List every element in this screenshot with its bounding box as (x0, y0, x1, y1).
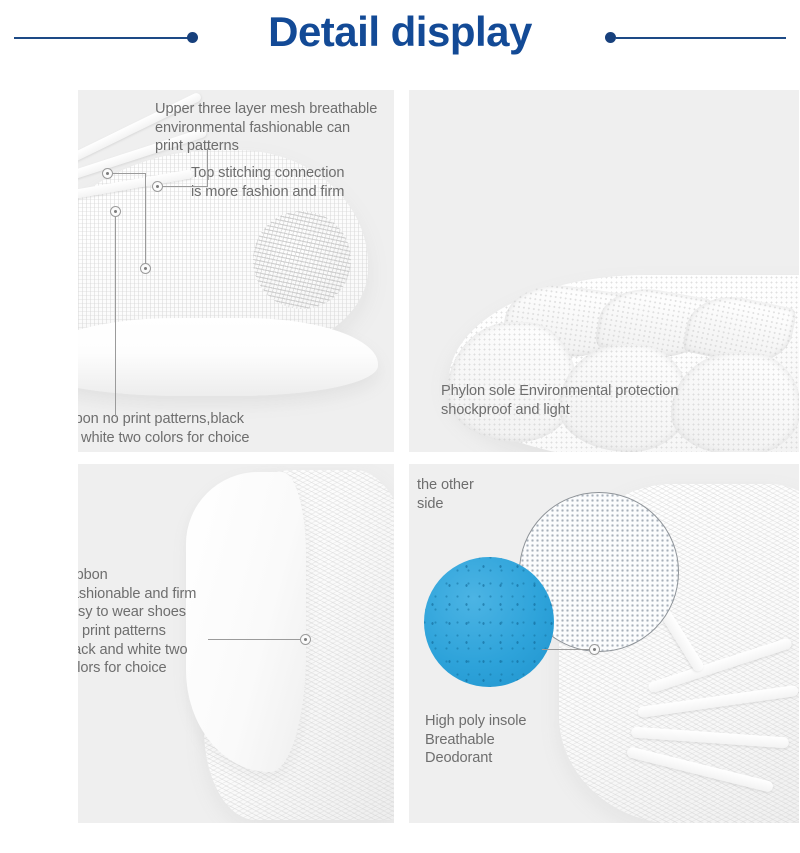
caption-high-poly-insole: High poly insole Breathable Deodorant (425, 712, 625, 768)
page-header: Detail display (0, 0, 800, 88)
caption-phylon-sole: Phylon sole Environmental protection sho… (441, 382, 781, 419)
callout-marker-stitching[interactable] (152, 181, 163, 192)
caption-upper-mesh: Upper three layer mesh breathable enviro… (155, 100, 394, 156)
insole-swatch-circle (424, 557, 554, 687)
callout-marker-insole[interactable] (589, 644, 600, 655)
callout-marker-ribbon[interactable] (300, 634, 311, 645)
caption-other-side: the other side (417, 476, 537, 513)
stitching-magnifier-circle (253, 211, 351, 309)
midsole-image (78, 318, 378, 396)
ribbon-collar-panel: Ribbon Fashionable and firm easy to wear… (78, 464, 394, 823)
callout-marker-toe[interactable] (140, 263, 151, 274)
leader-line (113, 173, 146, 174)
header-dot-right (605, 32, 616, 43)
leader-line (163, 186, 208, 187)
leader-line (542, 649, 590, 650)
callout-marker-midfoot[interactable] (110, 206, 121, 217)
leader-line (208, 639, 301, 640)
header-rule-right (616, 37, 786, 39)
phylon-sole-panel: Phylon sole Environmental protection sho… (409, 90, 799, 452)
page-title: Detail display (0, 8, 800, 56)
high-poly-insole-panel: the other side High poly insole Breathab… (409, 464, 799, 823)
caption-ribbon-detail: Ribbon Fashionable and firm easy to wear… (78, 566, 292, 678)
leader-line (145, 173, 146, 268)
upper-mesh-panel: Upper three layer mesh breathable enviro… (78, 90, 394, 452)
leader-line (207, 148, 208, 187)
caption-top-stitching: Top stitching connection is more fashion… (191, 164, 394, 201)
callout-marker-upper-mesh[interactable] (102, 168, 113, 179)
leader-line (115, 217, 116, 417)
